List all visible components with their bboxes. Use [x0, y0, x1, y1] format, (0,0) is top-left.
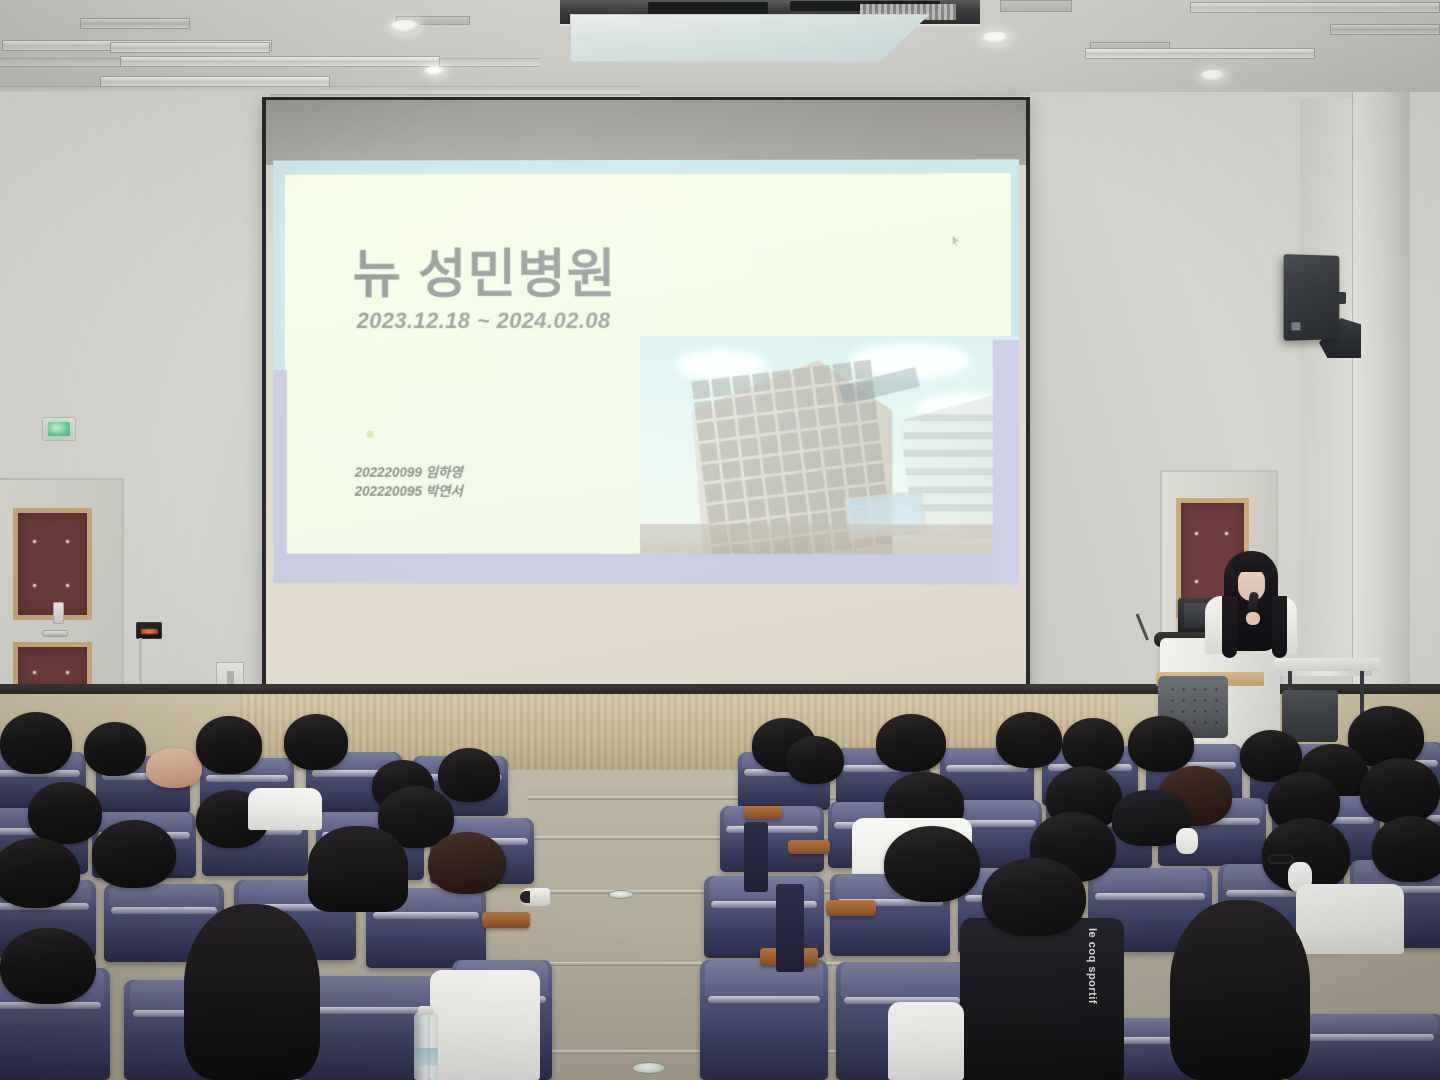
audience-torso — [248, 788, 322, 830]
audience-jacket — [960, 918, 1124, 1080]
screen-dark-band — [266, 100, 1026, 165]
audience-long-hair — [184, 904, 320, 1080]
ceiling-downlight — [424, 66, 446, 76]
ceiling-downlight — [982, 32, 1010, 44]
seat-armrest — [826, 900, 876, 916]
audience-head — [786, 736, 844, 784]
audience-head — [996, 712, 1062, 768]
wall-control-panel[interactable] — [136, 622, 162, 639]
shoe — [520, 888, 550, 906]
seat-side-panel — [776, 884, 804, 972]
presenter-bangs — [1232, 552, 1272, 572]
jacket-brand-text: le coq sportif — [1086, 928, 1098, 1004]
slide-artifact-dot — [367, 431, 374, 438]
slide-right-band — [993, 340, 1019, 585]
slide-author-1: 202220099 임하영 — [355, 463, 463, 483]
audience-head — [0, 838, 80, 908]
audience-long-hair — [1170, 900, 1310, 1080]
presentation-slide: 뉴 성민병원 2023.12.18 ~ 2024.02.08 202220099… — [273, 159, 1019, 584]
seat-armrest — [744, 806, 782, 819]
seat-armrest — [788, 840, 830, 854]
slide-left-band — [273, 370, 287, 583]
audience-hair — [308, 826, 408, 912]
slide-content-area: 뉴 성민병원 2023.12.18 ~ 2024.02.08 202220099… — [285, 173, 1011, 556]
audience-head — [1372, 816, 1440, 882]
audience-head — [1128, 716, 1194, 772]
audience-head — [982, 858, 1086, 936]
slide-date-range: 2023.12.18 ~ 2024.02.08 — [357, 308, 611, 334]
audience-head — [884, 826, 980, 902]
audience-head — [876, 714, 946, 772]
side-table — [1274, 658, 1380, 671]
audience-head — [284, 714, 348, 770]
seat-armrest — [482, 912, 530, 928]
side-chair — [1282, 690, 1338, 742]
slide-authors: 202220099 임하영 202220095 박연서 — [355, 463, 463, 502]
presenter-hair-strand — [1272, 596, 1287, 658]
aisle-floor-light — [608, 890, 634, 899]
slide-author-2: 202220095 박연서 — [355, 482, 463, 502]
audience-head — [438, 748, 500, 802]
face-mask — [1176, 828, 1198, 854]
audience-torso — [888, 1002, 964, 1080]
ceiling-downlight — [390, 20, 420, 33]
eyeglasses — [1268, 854, 1294, 864]
seat-side-panel — [744, 822, 768, 892]
audience-head — [28, 782, 102, 844]
audience-head — [428, 832, 506, 894]
door-handle[interactable] — [42, 630, 68, 637]
audience-head — [92, 820, 176, 888]
auditorium-scene: 뉴 성민병원 2023.12.18 ~ 2024.02.08 202220099… — [0, 0, 1440, 1080]
hospital-building-photo — [640, 336, 1019, 567]
door-lock-plate — [53, 602, 64, 624]
audience-head — [196, 716, 262, 774]
audience-head — [1360, 758, 1440, 824]
presenter-hair-strand — [1222, 596, 1237, 658]
audience-head — [0, 928, 96, 1004]
audience-torso — [430, 970, 540, 1080]
audience-head — [0, 712, 72, 774]
emergency-exit-sign — [42, 417, 76, 441]
ceiling-downlight — [1200, 70, 1226, 81]
side-table-rail — [1280, 671, 1372, 676]
slide-lower-band — [273, 553, 1019, 584]
audience-torso — [1296, 884, 1404, 954]
audience-head — [1062, 718, 1124, 772]
wall-column — [1300, 98, 1354, 658]
seat[interactable] — [700, 960, 828, 1080]
right-column — [1352, 92, 1410, 692]
audience-head — [146, 748, 202, 788]
audience-head — [84, 722, 146, 776]
water-bottle — [414, 1012, 438, 1080]
wall-mounted-speaker — [1284, 254, 1340, 341]
bottle-cap — [418, 1006, 434, 1015]
slide-title: 뉴 성민병원 — [353, 232, 617, 308]
aisle-floor-light — [632, 1062, 666, 1074]
projector-unit — [570, 14, 930, 62]
mouse-cursor-icon — [953, 236, 959, 246]
presenter-hand — [1246, 612, 1260, 625]
